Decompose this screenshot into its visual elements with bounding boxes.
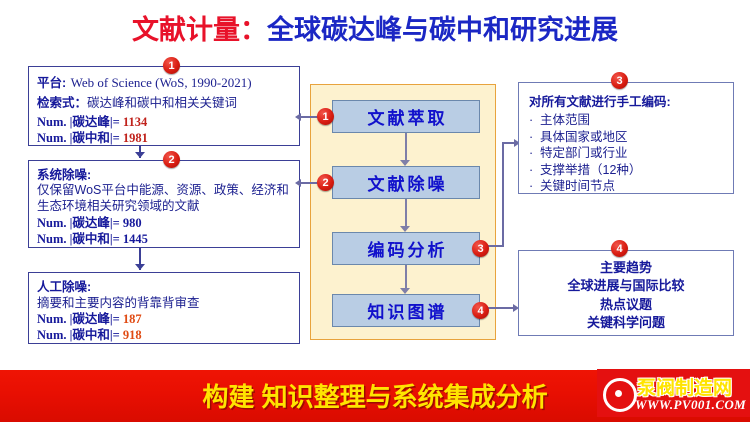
watermark-url: WWW.PV001.COM <box>635 397 746 413</box>
query-value: 碳达峰和碳中和相关关键词 <box>87 96 237 110</box>
manual-denoise-body: 摘要和主要内容的背靠背审查 <box>37 295 291 311</box>
badge-4-right: 4 <box>611 240 628 257</box>
bullet-label: 具体国家或地区 <box>540 130 628 144</box>
badge-3-flow: 3 <box>472 240 489 257</box>
manual-denoise-details-box: 人工除噪: 摘要和主要内容的背靠背审查 Num. |碳达峰|= 187 Num.… <box>28 272 300 344</box>
metric-label-neutral-2: Num. |碳中和|= <box>37 232 120 246</box>
page-title: 文献计量：全球碳达峰与碳中和研究进展 <box>0 8 750 47</box>
metric-label-peak-2: Num. |碳达峰|= <box>37 216 120 230</box>
system-denoise-details-box: 系统除噪: 仅保留WoS平台中能源、资源、政策、经济和生态环境相关研究领域的文献… <box>28 160 300 248</box>
list-item: ·支撑举措（12种） <box>529 162 723 179</box>
platform-value: Web of Science (WoS, 1990-2021) <box>71 75 252 90</box>
flow-arrow-head-2-icon <box>400 226 410 232</box>
list-item: ·具体国家或地区 <box>529 129 723 146</box>
metric-label-neutral-1: Num. |碳中和|= <box>37 131 120 145</box>
badge-1-left: 1 <box>163 57 180 74</box>
bullet-icon: · <box>529 178 540 195</box>
system-denoise-heading: 系统除噪: <box>37 167 291 183</box>
list-item: ·关键时间节点 <box>529 178 723 195</box>
metric-label-neutral-3: Num. |碳中和|= <box>37 328 120 342</box>
outcome-line: 关键科学问题 <box>529 314 723 332</box>
arrow-head-down-1-icon <box>135 152 145 158</box>
bullet-icon: · <box>529 162 540 179</box>
flow-step-knowledge-map[interactable]: 知识图谱 <box>332 294 480 327</box>
bullet-label: 特定部门或行业 <box>540 146 628 160</box>
flow-step-coding[interactable]: 编码分析 <box>332 232 480 265</box>
outcome-line: 热点议题 <box>529 296 723 314</box>
slide-canvas: 文献计量：全球碳达峰与碳中和研究进展 平台: Web of Science (W… <box>0 0 750 422</box>
badge-2-left: 2 <box>163 151 180 168</box>
badge-3-right: 3 <box>611 72 628 89</box>
flow-arrow-head-1-icon <box>400 160 410 166</box>
badge-4-flow: 4 <box>472 302 489 319</box>
platform-label: 平台: <box>37 76 66 90</box>
connector-flow3-v <box>502 142 504 246</box>
watermark-logo: 泵阀制造网 WWW.PV001.COM <box>597 369 750 417</box>
flow-step-denoise[interactable]: 文献除噪 <box>332 166 480 199</box>
manual-coding-box: 对所有文献进行手工编码: ·主体范围 ·具体国家或地区 ·特定部门或行业 ·支撑… <box>518 82 734 194</box>
manual-coding-heading: 对所有文献进行手工编码: <box>529 91 723 110</box>
metric-label-peak-3: Num. |碳达峰|= <box>37 312 120 326</box>
metric-value-neutral-3: 918 <box>123 328 142 342</box>
page-title-blue: 全球碳达峰与碳中和研究进展 <box>267 15 618 45</box>
bullet-icon: · <box>529 145 540 162</box>
badge-1-flow: 1 <box>317 108 334 125</box>
list-item: ·特定部门或行业 <box>529 145 723 162</box>
outcome-line: 主要趋势 <box>529 259 723 277</box>
flow-arrow-head-3-icon <box>400 288 410 294</box>
manual-coding-list: ·主体范围 ·具体国家或地区 ·特定部门或行业 ·支撑举措（12种） ·关键时间… <box>529 112 723 195</box>
badge-2-flow: 2 <box>317 174 334 191</box>
list-item: ·主体范围 <box>529 112 723 129</box>
arrow-head-left-1-icon <box>295 113 301 121</box>
metric-label-peak-1: Num. |碳达峰|= <box>37 115 120 129</box>
manual-denoise-heading: 人工除噪: <box>37 279 291 295</box>
system-denoise-body: 仅保留WoS平台中能源、资源、政策、经济和生态环境相关研究领域的文献 <box>37 183 291 215</box>
bullet-icon: · <box>529 112 540 129</box>
flow-step-extraction[interactable]: 文献萃取 <box>332 100 480 133</box>
page-title-red: 文献计量： <box>132 15 267 45</box>
outcomes-box: 主要趋势 全球进展与国际比较 热点议题 关键科学问题 <box>518 250 734 336</box>
metric-value-peak-3: 187 <box>123 312 142 326</box>
metric-value-neutral-1: 1981 <box>123 131 148 145</box>
watermark-name: 泵阀制造网 <box>637 373 732 400</box>
arrow-head-left-2-icon <box>295 179 301 187</box>
flow-connector-3 <box>405 265 407 290</box>
bullet-label: 支撑举措（12种） <box>540 163 641 177</box>
bullet-label: 关键时间节点 <box>540 179 615 193</box>
flow-connector-2 <box>405 199 407 228</box>
query-label: 检索式： <box>37 96 87 110</box>
outcome-line: 全球进展与国际比较 <box>529 277 723 295</box>
metric-value-peak-2: 980 <box>123 216 142 230</box>
bullet-icon: · <box>529 129 540 146</box>
literature-extraction-details-box: 平台: Web of Science (WoS, 1990-2021) 检索式：… <box>28 66 300 146</box>
logo-ring-icon <box>603 378 637 412</box>
metric-value-peak-1: 1134 <box>123 115 147 129</box>
metric-value-neutral-2: 1445 <box>123 232 148 246</box>
bullet-label: 主体范围 <box>540 113 590 127</box>
flow-connector-1 <box>405 133 407 162</box>
arrow-head-down-2-icon <box>135 264 145 270</box>
